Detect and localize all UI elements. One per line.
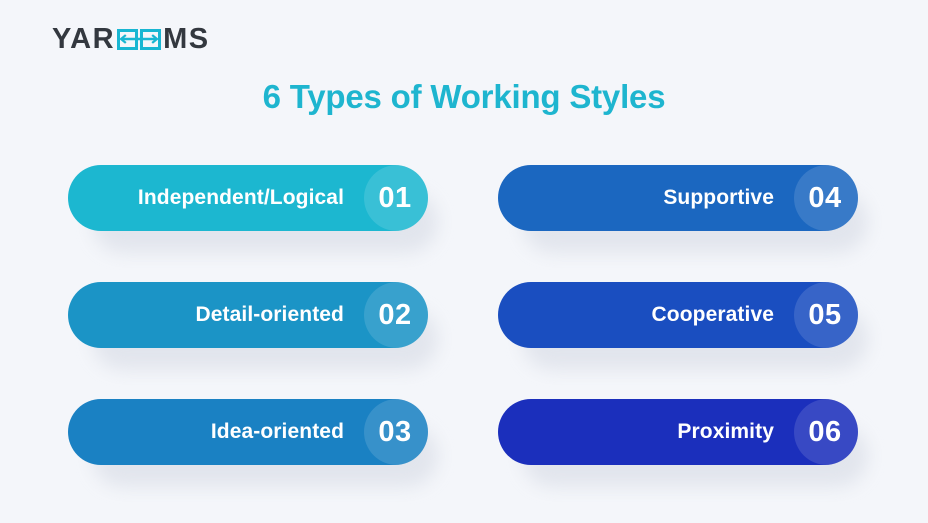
pill-number: 06 [792, 416, 858, 449]
brand-logo[interactable]: YAR MS [52, 22, 210, 56]
logo-text-right: MS [163, 25, 210, 54]
pill-05[interactable]: Cooperative 05 [498, 282, 858, 348]
list-item[interactable]: Independent/Logical 01 [68, 165, 428, 245]
list-item[interactable]: Detail-oriented 02 [68, 282, 428, 362]
logo-text-left: YAR [52, 25, 115, 54]
list-item[interactable]: Cooperative 05 [498, 282, 858, 362]
pill-01[interactable]: Independent/Logical 01 [68, 165, 428, 231]
linked-squares-arrow-icon [117, 29, 161, 50]
pill-label: Idea-oriented [211, 420, 344, 444]
pill-label: Independent/Logical [138, 186, 344, 210]
list-item[interactable]: Supportive 04 [498, 165, 858, 245]
pill-label: Detail-oriented [195, 303, 344, 327]
pill-label: Supportive [663, 186, 774, 210]
pill-03[interactable]: Idea-oriented 03 [68, 399, 428, 465]
pill-02[interactable]: Detail-oriented 02 [68, 282, 428, 348]
pill-04[interactable]: Supportive 04 [498, 165, 858, 231]
list-item[interactable]: Idea-oriented 03 [68, 399, 428, 479]
pill-label: Cooperative [652, 303, 774, 327]
working-styles-list: Independent/Logical 01 Supportive 04 Det… [68, 165, 868, 479]
pill-number: 01 [362, 182, 428, 215]
pill-number: 02 [362, 299, 428, 332]
list-item[interactable]: Proximity 06 [498, 399, 858, 479]
pill-06[interactable]: Proximity 06 [498, 399, 858, 465]
pill-number: 03 [362, 416, 428, 449]
page-title: 6 Types of Working Styles [0, 78, 928, 116]
pill-number: 04 [792, 182, 858, 215]
pill-label: Proximity [677, 420, 774, 444]
pill-number: 05 [792, 299, 858, 332]
